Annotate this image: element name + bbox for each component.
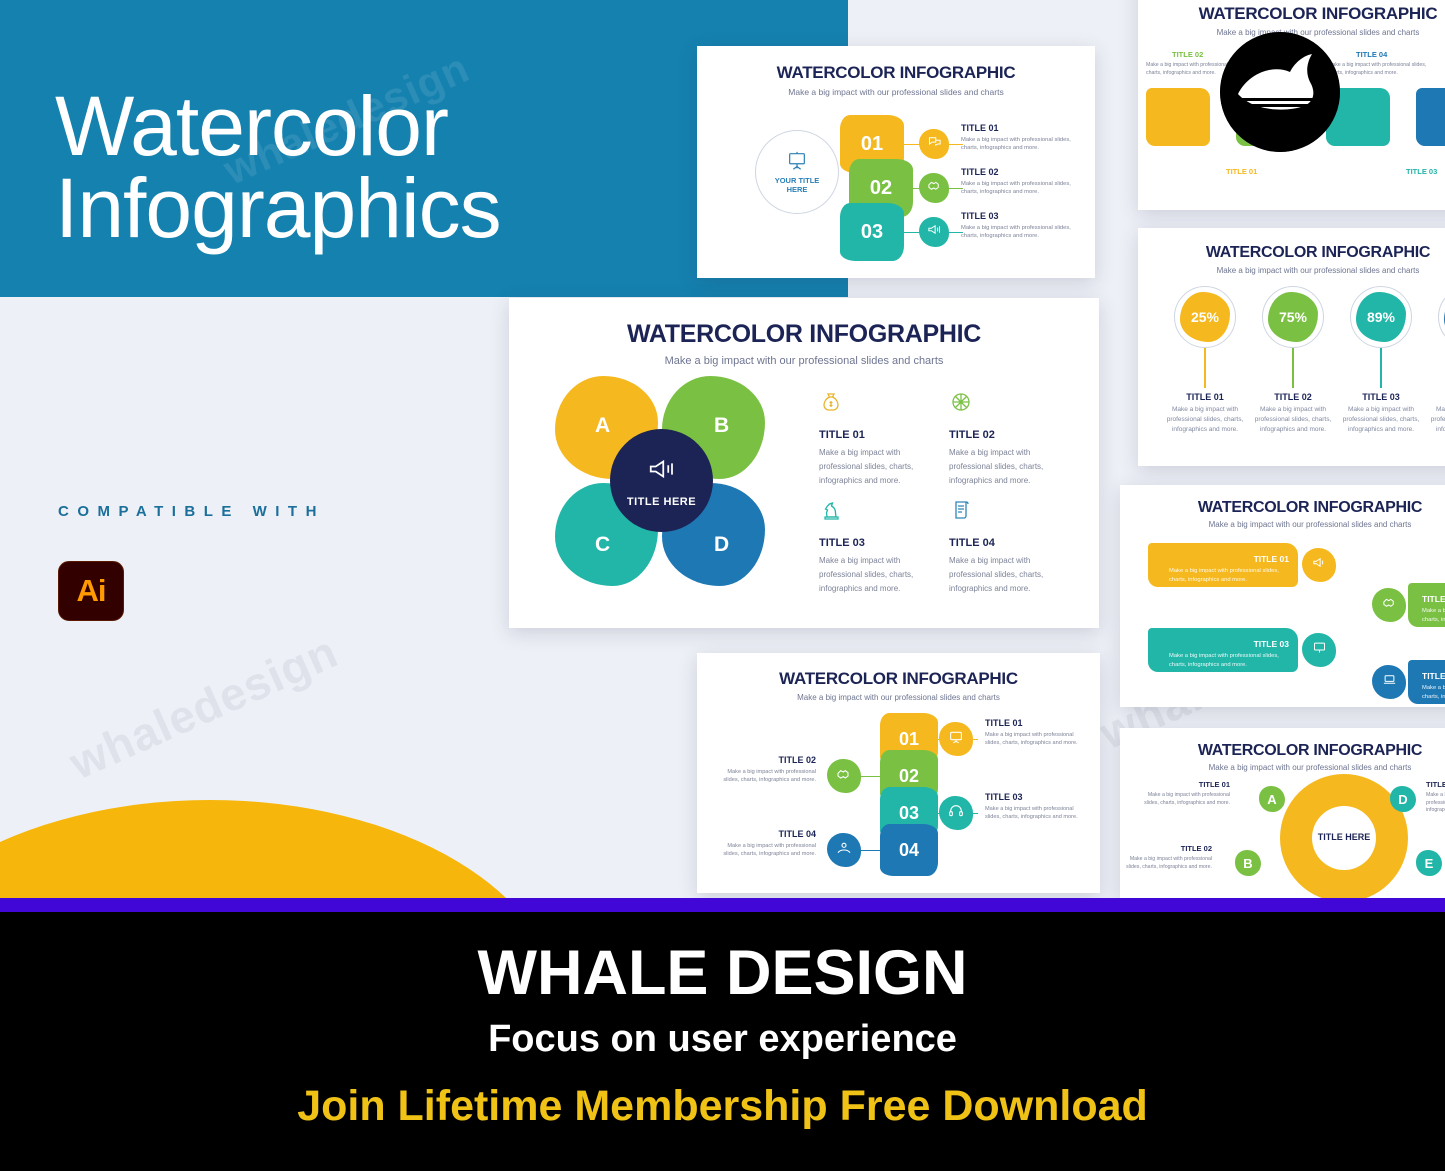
brush-node-01 [1302, 548, 1336, 582]
slide-title: WATERCOLOR INFOGRAPHIC [1120, 499, 1445, 517]
feature-title-01: TITLE 01 [819, 429, 929, 441]
slide-subtitle: Make a big impact with our professional … [697, 693, 1100, 702]
step-number-03: 03 [861, 221, 883, 244]
donut-center-label: TITLE HERE [1296, 832, 1392, 842]
quadrant-d-letter: D [714, 533, 729, 557]
donut-body-01: Make a big impact with professional slid… [1138, 792, 1230, 807]
percent-value-02: 75% [1268, 292, 1318, 342]
swatch-block-01[interactable] [1146, 88, 1210, 146]
slide-subtitle: Make a big impact with our professional … [697, 87, 1095, 97]
percent-stem-02 [1292, 348, 1293, 388]
percent-title-02: TITLE 02 [1250, 392, 1336, 402]
percent-ring-03: 89% [1350, 286, 1412, 348]
page-title-line-1: Watercolor [55, 85, 501, 167]
slide-card-brush-strokes[interactable]: WATERCOLOR INFOGRAPHIC Make a big impact… [1120, 485, 1445, 707]
percent-item-01[interactable]: 25% TITLE 01 Make a big impact with prof… [1162, 286, 1248, 434]
zigzag-number-04: 04 [899, 840, 919, 861]
scroll-document-icon [949, 509, 973, 526]
pie-chart-icon [949, 401, 973, 418]
whale-logo [1220, 32, 1340, 152]
feature-body-02: Make a big impact with professional slid… [949, 446, 1059, 488]
step-icon-badge-03 [919, 217, 949, 247]
brush-bar-02[interactable]: TITLE 02 Make a big impact with professi… [1408, 583, 1445, 627]
support-hand-icon [836, 840, 852, 861]
zigzag-title-03: TITLE 03 [985, 792, 1023, 802]
letter-node-e[interactable]: E [1416, 850, 1442, 876]
swatch-block-04[interactable] [1416, 88, 1445, 146]
letter-node-a[interactable]: A [1259, 786, 1285, 812]
center-ring-label: YOUR TITLE HERE [755, 130, 839, 214]
donut-title-02: TITLE 02 [1132, 844, 1212, 853]
slide-title: WATERCOLOR INFOGRAPHIC [697, 63, 1095, 83]
purple-divider [0, 898, 1445, 912]
slide-subtitle: Make a big impact with our professional … [1120, 520, 1445, 529]
zigzag-icon-badge-03 [939, 796, 973, 830]
slide-card-quadrant-chart[interactable]: WATERCOLOR INFOGRAPHIC Make a big impact… [509, 298, 1099, 628]
percent-value-03: 89% [1356, 292, 1406, 342]
percent-ring-01: 25% [1174, 286, 1236, 348]
slide-title: WATERCOLOR INFOGRAPHIC [1138, 4, 1445, 24]
feature-body-03: Make a big impact with professional slid… [819, 554, 929, 596]
zigzag-title-01: TITLE 01 [985, 718, 1023, 728]
zigzag-number-03: 03 [899, 803, 919, 824]
adobe-illustrator-icon: Ai [58, 561, 124, 621]
step-body-02: Make a big impact with professional slid… [961, 180, 1081, 197]
feature-body-01: Make a big impact with professional slid… [819, 446, 929, 488]
brush-body-01: Make a big impact with professional slid… [1169, 567, 1289, 585]
step-title-03: TITLE 03 [961, 211, 999, 221]
letter-node-b-label: B [1243, 856, 1252, 871]
brush-body-02: Make a big impact with professional slid… [1422, 607, 1445, 625]
slide-card-process-3step[interactable]: WATERCOLOR INFOGRAPHIC Make a big impact… [697, 46, 1095, 278]
letter-node-d-label: D [1398, 792, 1407, 807]
zigzag-body-02: Make a big impact with professional slid… [711, 768, 816, 784]
slide-card-percent-circles[interactable]: WATERCOLOR INFOGRAPHIC Make a big impact… [1138, 228, 1445, 466]
feature-title-02: TITLE 02 [949, 429, 1059, 441]
swatch-top-title-2: TITLE 04 [1356, 50, 1387, 59]
brush-node-04 [1372, 665, 1406, 699]
brush-bar-04[interactable]: TITLE 04 Make a big impact with professi… [1408, 660, 1445, 704]
step-number-02: 02 [870, 177, 892, 200]
brush-title-04: TITLE 04 [1422, 671, 1445, 681]
page-title-line-2: Infographics [55, 167, 501, 249]
quadrant-c-letter: C [595, 533, 610, 557]
step-title-02: TITLE 02 [961, 167, 999, 177]
brush-node-02 [1372, 588, 1406, 622]
center-ring-line-1: YOUR TITLE [775, 176, 820, 185]
handshake-icon [927, 178, 942, 198]
zigzag-shape-04[interactable]: 04 [880, 824, 938, 876]
brush-bar-01[interactable]: TITLE 01 Make a big impact with professi… [1148, 543, 1298, 587]
feature-body-04: Make a big impact with professional slid… [949, 554, 1059, 596]
quadrant-center-hub: TITLE HERE [610, 429, 713, 532]
megaphone-icon [927, 222, 942, 242]
zigzag-body-03: Make a big impact with professional slid… [985, 805, 1090, 821]
letter-node-a-label: A [1267, 792, 1276, 807]
chat-bubbles-icon [927, 134, 942, 154]
zigzag-title-04: TITLE 04 [711, 829, 816, 839]
donut-title-01: TITLE 01 [1150, 780, 1230, 789]
handshake-icon [1382, 595, 1397, 615]
poster-canvas: whaledesign whaledesign whaledesign Wate… [0, 0, 1445, 1171]
slide-subtitle: Make a big impact with our professional … [1120, 763, 1445, 772]
slide-card-donut-letters[interactable]: WATERCOLOR INFOGRAPHIC Make a big impact… [1120, 728, 1445, 900]
percent-title-04: TITLE 04 [1426, 392, 1445, 402]
brand-tagline: Focus on user experience [0, 1018, 1445, 1061]
brand-name: WHALE DESIGN [0, 937, 1445, 1009]
step-body-01: Make a big impact with professional slid… [961, 136, 1081, 153]
brush-bar-03[interactable]: TITLE 03 Make a big impact with professi… [1148, 628, 1298, 672]
donut-body-02: Make a big impact with professional slid… [1124, 856, 1212, 871]
feature-item-02: TITLE 02 Make a big impact with professi… [949, 390, 1059, 488]
zigzag-icon-badge-02 [827, 759, 861, 793]
percent-ring-04: 17% [1438, 286, 1445, 348]
slide-title: WATERCOLOR INFOGRAPHIC [697, 669, 1100, 689]
percent-body-04: Make a big impact with professional slid… [1426, 405, 1445, 434]
zigzag-body-01: Make a big impact with professional slid… [985, 731, 1090, 747]
brush-title-01: TITLE 01 [1254, 554, 1289, 564]
zigzag-icon-badge-01 [939, 722, 973, 756]
swatch-top-body-2: Make a big impact with professional slid… [1328, 62, 1433, 77]
feature-title-04: TITLE 04 [949, 537, 1059, 549]
slide-subtitle: Make a big impact with our professional … [1138, 266, 1445, 275]
feature-item-01: TITLE 01 Make a big impact with professi… [819, 390, 929, 488]
percent-title-01: TITLE 01 [1162, 392, 1248, 402]
presentation-icon [786, 150, 808, 172]
brush-body-04: Make a big impact with professional slid… [1422, 684, 1445, 702]
percent-item-04[interactable]: 17% TITLE 04 Make a big impact with prof… [1426, 286, 1445, 434]
donut-body-04: Make a big impact with professional slid… [1426, 792, 1445, 815]
percent-body-01: Make a big impact with professional slid… [1162, 405, 1248, 434]
percent-ring-02: 75% [1262, 286, 1324, 348]
slide-title: WATERCOLOR INFOGRAPHIC [1120, 742, 1445, 760]
quadrant-a-letter: A [595, 414, 610, 438]
megaphone-icon [647, 454, 677, 489]
slide-card-zigzag-4step[interactable]: WATERCOLOR INFOGRAPHIC Make a big impact… [697, 653, 1100, 893]
swatch-top-title-1: TITLE 02 [1172, 50, 1203, 59]
percent-item-03[interactable]: 89% TITLE 03 Make a big impact with prof… [1338, 286, 1424, 434]
percent-title-03: TITLE 03 [1338, 392, 1424, 402]
brush-node-03 [1302, 633, 1336, 667]
zigzag-number-01: 01 [899, 729, 919, 750]
slide-subtitle: Make a big impact with our professional … [509, 355, 1099, 367]
zigzag-title-02: TITLE 02 [711, 755, 816, 765]
megaphone-icon [1312, 555, 1327, 575]
letter-node-e-label: E [1425, 856, 1434, 871]
letter-node-d[interactable]: D [1390, 786, 1416, 812]
brush-body-03: Make a big impact with professional slid… [1169, 652, 1289, 670]
feature-title-03: TITLE 03 [819, 537, 929, 549]
brush-title-03: TITLE 03 [1254, 639, 1289, 649]
cta-text[interactable]: Join Lifetime Membership Free Download [0, 1082, 1445, 1131]
step-icon-badge-01 [919, 129, 949, 159]
presentation-icon [948, 729, 964, 750]
zigzag-body-04: Make a big impact with professional slid… [711, 842, 816, 858]
quadrant-center-label: TITLE HERE [627, 496, 696, 508]
percent-stem-03 [1380, 348, 1381, 388]
step-number-01: 01 [861, 133, 883, 156]
step-icon-badge-02 [919, 173, 949, 203]
handshake-icon [836, 766, 852, 787]
donut-title-04: TITLE 04 [1426, 780, 1445, 789]
laptop-icon [1382, 672, 1397, 692]
letter-node-b[interactable]: B [1235, 850, 1261, 876]
percent-item-02[interactable]: 75% TITLE 02 Make a big impact with prof… [1250, 286, 1336, 434]
center-ring-line-2: HERE [787, 185, 808, 194]
page-title: Watercolor Infographics [55, 85, 501, 250]
step-shape-03[interactable]: 03 [840, 203, 904, 261]
quadrant-b-letter: B [714, 414, 729, 438]
percent-body-02: Make a big impact with professional slid… [1250, 405, 1336, 434]
presentation-icon [1312, 640, 1327, 660]
slide-title: WATERCOLOR INFOGRAPHIC [1138, 244, 1445, 262]
compatible-with-label: COMPATIBLE WITH [58, 503, 325, 520]
chess-knight-icon [819, 509, 843, 526]
slide-title: WATERCOLOR INFOGRAPHIC [509, 320, 1099, 349]
zigzag-number-02: 02 [899, 766, 919, 787]
step-body-03: Make a big impact with professional slid… [961, 224, 1081, 241]
percent-value-01: 25% [1180, 292, 1230, 342]
zigzag-icon-badge-04 [827, 833, 861, 867]
feature-item-03: TITLE 03 Make a big impact with professi… [819, 498, 929, 596]
step-title-01: TITLE 01 [961, 123, 999, 133]
percent-stem-01 [1204, 348, 1205, 388]
swatch-bottom-title-1: TITLE 01 [1226, 167, 1257, 176]
brush-title-02: TITLE 02 [1422, 594, 1445, 604]
percent-body-03: Make a big impact with professional slid… [1338, 405, 1424, 434]
swatch-bottom-title-2: TITLE 03 [1406, 167, 1437, 176]
money-bag-icon [819, 401, 843, 418]
headset-icon [948, 803, 964, 824]
feature-item-04: TITLE 04 Make a big impact with professi… [949, 498, 1059, 596]
quadrant-chart: A B C D TITLE HERE [555, 376, 765, 586]
